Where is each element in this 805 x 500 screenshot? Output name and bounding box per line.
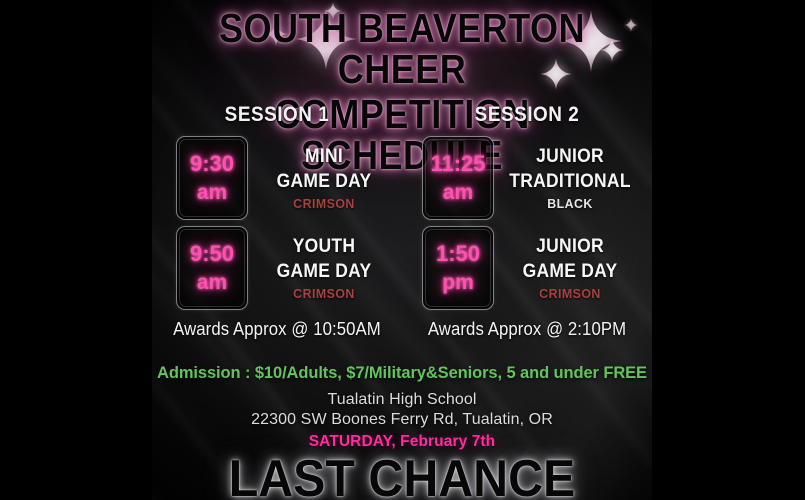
session-2-awards: Awards Approx @ 2:10PM (411, 319, 644, 340)
entry-meridiem: am (197, 182, 227, 203)
headline-last-chance: LAST CHANCE (170, 452, 635, 500)
entry-labels: JUNIOR GAME DAY CRIMSON (504, 235, 636, 300)
schedule-entry: 9:30 am MINI GAME DAY CRIMSON (152, 136, 402, 220)
time-box: 9:30 am (176, 136, 248, 220)
venue-address: 22300 SW Boones Ferry Rd, Tualatin, OR (152, 411, 652, 429)
entry-meridiem: am (443, 182, 473, 203)
entry-labels: YOUTH GAME DAY CRIMSON (258, 235, 390, 300)
event-date: SATURDAY, February 7th (152, 433, 652, 451)
entry-time: 9:30 (190, 153, 234, 175)
entry-time: 9:50 (190, 243, 234, 265)
screenshot-canvas: SOUTH BEAVERTON CHEER COMPETITION SCHEDU… (0, 0, 805, 500)
title-line-1: SOUTH BEAVERTON CHEER (182, 8, 622, 90)
session-column-2: SESSION 2 11:25 am JUNIOR TRADITIONAL BL… (402, 103, 652, 340)
time-box: 9:50 am (176, 226, 248, 310)
session-1-awards: Awards Approx @ 10:50AM (161, 319, 394, 340)
entry-category: GAME DAY (263, 170, 384, 193)
entry-category: GAME DAY (263, 260, 384, 283)
session-1-heading: SESSION 1 (165, 103, 390, 127)
entry-division: JUNIOR (509, 145, 630, 168)
entry-labels: MINI GAME DAY CRIMSON (258, 145, 390, 210)
entry-category: GAME DAY (509, 260, 630, 283)
entry-division: YOUTH (263, 235, 384, 258)
entry-squad: BLACK (507, 196, 632, 211)
entry-squad: CRIMSON (261, 286, 386, 301)
letterbox-bar-left (0, 0, 152, 500)
admission-info: Admission : $10/Adults, $7/Military&Seni… (152, 364, 652, 383)
venue-name: Tualatin High School (152, 391, 652, 409)
entry-time: 11:25 (430, 153, 485, 175)
entry-labels: JUNIOR TRADITIONAL BLACK (504, 145, 636, 210)
entry-meridiem: am (197, 272, 227, 293)
entry-time: 1:50 (436, 243, 480, 265)
schedule-entry: 11:25 am JUNIOR TRADITIONAL BLACK (402, 136, 652, 220)
session-2-heading: SESSION 2 (415, 103, 640, 127)
entry-squad: CRIMSON (507, 286, 632, 301)
letterbox-bar-right (652, 0, 805, 500)
cheer-competition-poster: SOUTH BEAVERTON CHEER COMPETITION SCHEDU… (152, 0, 652, 500)
time-box: 1:50 pm (422, 226, 494, 310)
entry-division: JUNIOR (509, 235, 630, 258)
session-schedule: SESSION 1 9:30 am MINI GAME DAY CRIMSON (152, 103, 652, 340)
time-box: 11:25 am (422, 136, 494, 220)
entry-squad: CRIMSON (261, 196, 386, 211)
entry-meridiem: pm (442, 272, 474, 293)
schedule-entry: 1:50 pm JUNIOR GAME DAY CRIMSON (402, 226, 652, 310)
session-column-1: SESSION 1 9:30 am MINI GAME DAY CRIMSON (152, 103, 402, 340)
entry-category: TRADITIONAL (509, 170, 630, 193)
entry-division: MINI (263, 145, 384, 168)
schedule-entry: 9:50 am YOUTH GAME DAY CRIMSON (152, 226, 402, 310)
poster-footer: Admission : $10/Adults, $7/Military&Seni… (152, 364, 652, 500)
